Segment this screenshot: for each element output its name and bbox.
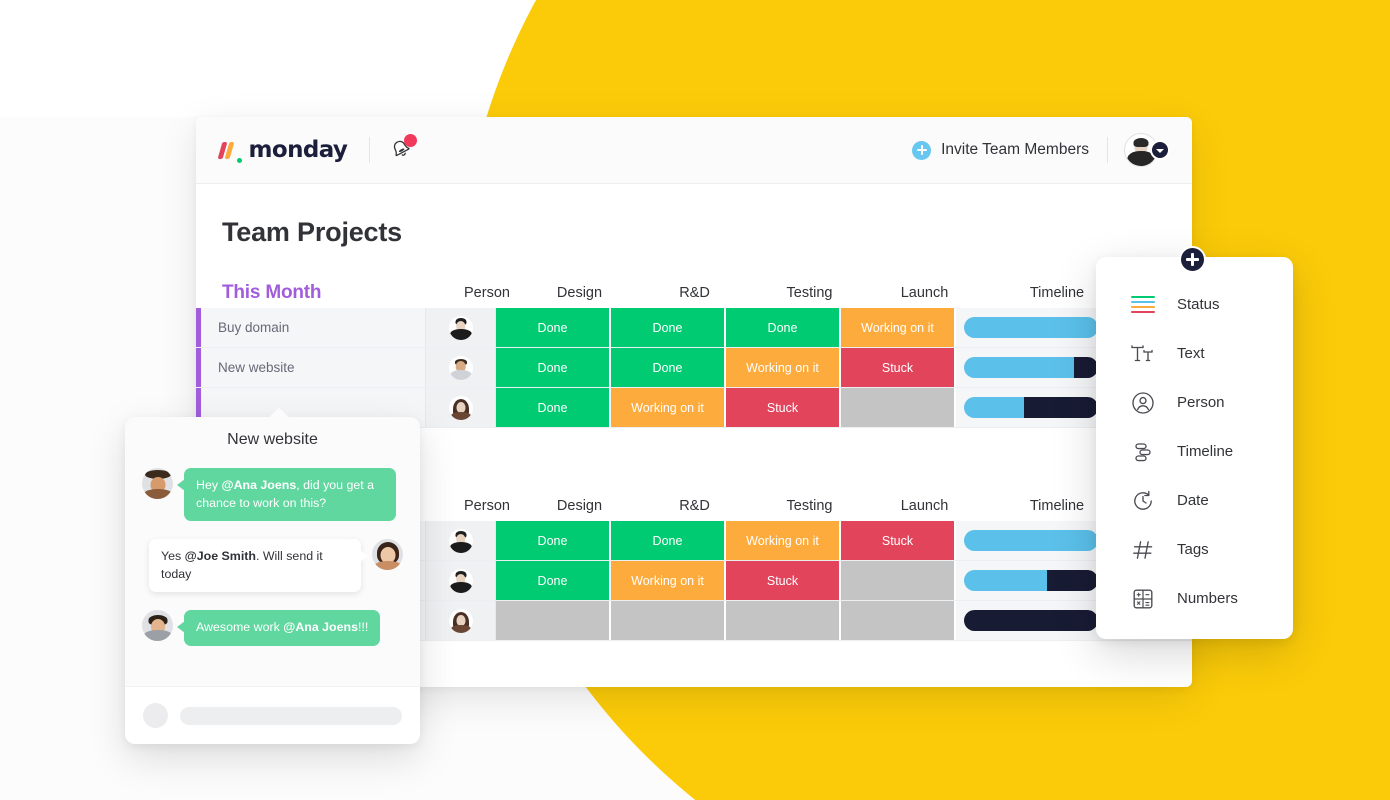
timeline-bar bbox=[964, 530, 1098, 551]
popup-pointer bbox=[268, 408, 290, 418]
chat-bubble: Awesome work @Ana Joens!!! bbox=[184, 610, 380, 646]
timeline-progress bbox=[964, 570, 1047, 591]
column-header-testing[interactable]: Testing bbox=[752, 285, 867, 301]
row-timeline-cell[interactable] bbox=[956, 601, 1106, 640]
status-badge[interactable]: Working on it bbox=[726, 348, 841, 387]
row-person-cell[interactable] bbox=[426, 561, 496, 600]
page-root: monday Invite Team Members bbox=[0, 0, 1390, 800]
column-type-label: Person bbox=[1177, 394, 1225, 411]
text-tt-icon bbox=[1130, 343, 1155, 365]
avatar bbox=[449, 396, 473, 420]
group-header: This MonthPersonDesignR&DTestingLaunchTi… bbox=[196, 278, 1192, 308]
column-type-item-date[interactable]: Date bbox=[1096, 476, 1293, 525]
hash-tags-icon bbox=[1130, 537, 1155, 562]
column-type-label: Text bbox=[1177, 345, 1205, 362]
column-header-testing[interactable]: Testing bbox=[752, 498, 867, 514]
status-badge[interactable] bbox=[841, 561, 956, 600]
timeline-remaining bbox=[1024, 397, 1098, 418]
avatar bbox=[449, 316, 473, 340]
status-badge[interactable] bbox=[841, 388, 956, 427]
column-header-person[interactable]: Person bbox=[452, 285, 522, 301]
monday-logo[interactable]: monday bbox=[220, 137, 347, 163]
status-badge[interactable]: Working on it bbox=[611, 561, 726, 600]
topbar-divider bbox=[369, 137, 370, 163]
column-type-item-timeline[interactable]: Timeline bbox=[1096, 427, 1293, 476]
logo-text: monday bbox=[249, 137, 348, 163]
plus-circle-icon bbox=[912, 141, 931, 160]
status-badge[interactable]: Stuck bbox=[841, 348, 956, 387]
column-type-item-tags[interactable]: Tags bbox=[1096, 525, 1293, 574]
column-type-item-person[interactable]: Person bbox=[1096, 378, 1293, 427]
chevron-down-icon[interactable] bbox=[1150, 140, 1170, 160]
row-person-cell[interactable] bbox=[426, 308, 496, 347]
hash-tags-icon bbox=[1131, 538, 1155, 562]
column-type-label: Date bbox=[1177, 492, 1209, 509]
group-name[interactable]: This Month bbox=[222, 282, 452, 304]
timeline-bar bbox=[964, 570, 1098, 591]
invite-team-members-button[interactable]: Invite Team Members bbox=[912, 141, 1089, 160]
timeline-progress bbox=[964, 530, 1098, 551]
timeline-bars-icon bbox=[1131, 440, 1155, 464]
chat-bubble: Hey @Ana Joens, did you get a chance to … bbox=[184, 468, 396, 521]
column-header-design[interactable]: Design bbox=[522, 498, 637, 514]
table-row[interactable]: New websiteDoneDoneWorking on itStuck bbox=[196, 348, 1192, 388]
status-badge[interactable] bbox=[496, 601, 611, 640]
board-group: This MonthPersonDesignR&DTestingLaunchTi… bbox=[196, 278, 1192, 428]
status-badge[interactable]: Done bbox=[611, 521, 726, 560]
timeline-bar bbox=[964, 610, 1098, 631]
status-badge[interactable]: Done bbox=[726, 308, 841, 347]
row-person-cell[interactable] bbox=[426, 601, 496, 640]
status-badge[interactable]: Stuck bbox=[726, 561, 841, 600]
invite-label: Invite Team Members bbox=[941, 141, 1089, 159]
user-avatar-menu[interactable] bbox=[1124, 133, 1170, 167]
status-lines-icon bbox=[1131, 296, 1155, 314]
avatar bbox=[449, 529, 473, 553]
row-timeline-cell[interactable] bbox=[956, 388, 1106, 427]
person-circle-icon bbox=[1130, 390, 1155, 415]
column-type-item-status[interactable]: Status bbox=[1096, 280, 1293, 329]
status-badge[interactable] bbox=[611, 601, 726, 640]
status-lines-icon bbox=[1130, 292, 1155, 317]
timeline-remaining bbox=[1047, 570, 1098, 591]
row-timeline-cell[interactable] bbox=[956, 561, 1106, 600]
column-type-list: StatusTextPersonTimelineDateTagsNumbers bbox=[1096, 280, 1293, 623]
timeline-remaining bbox=[964, 610, 1098, 631]
app-topbar: monday Invite Team Members bbox=[196, 117, 1192, 184]
column-type-item-numbers[interactable]: Numbers bbox=[1096, 574, 1293, 623]
chat-input[interactable] bbox=[180, 707, 402, 725]
table-row[interactable]: Buy domainDoneDoneDoneWorking on it bbox=[196, 308, 1192, 348]
status-badge[interactable]: Stuck bbox=[726, 388, 841, 427]
timeline-bar bbox=[964, 317, 1098, 338]
avatar bbox=[449, 356, 473, 380]
item-updates-popup: New website Hey @Ana Joens, did you get … bbox=[125, 417, 420, 744]
clock-date-icon bbox=[1130, 488, 1155, 513]
compose-avatar bbox=[143, 703, 168, 728]
add-column-button[interactable] bbox=[1179, 246, 1206, 273]
chat-message: Awesome work @Ana Joens!!! bbox=[142, 610, 403, 646]
chat-message: Yes @Joe Smith. Will send it today bbox=[142, 539, 403, 592]
status-badge[interactable]: Done bbox=[611, 348, 726, 387]
notifications-button[interactable] bbox=[388, 137, 416, 163]
status-badge[interactable]: Working on it bbox=[726, 521, 841, 560]
notification-badge bbox=[404, 134, 417, 147]
person-circle-icon bbox=[1131, 391, 1155, 415]
status-badge[interactable]: Done bbox=[496, 521, 611, 560]
column-type-label: Tags bbox=[1177, 541, 1209, 558]
status-badge[interactable] bbox=[726, 601, 841, 640]
timeline-bar bbox=[964, 397, 1098, 418]
text-tt-icon bbox=[1130, 341, 1155, 366]
avatar bbox=[142, 610, 173, 641]
chat-message: Hey @Ana Joens, did you get a chance to … bbox=[142, 468, 403, 521]
status-badge[interactable] bbox=[841, 601, 956, 640]
column-header-rd[interactable]: R&D bbox=[637, 285, 752, 301]
timeline-bars-icon bbox=[1130, 439, 1155, 464]
row-person-cell[interactable] bbox=[426, 388, 496, 427]
column-header-rd[interactable]: R&D bbox=[637, 498, 752, 514]
numbers-grid-icon bbox=[1131, 587, 1155, 611]
avatar bbox=[142, 468, 173, 499]
status-badge[interactable]: Done bbox=[611, 308, 726, 347]
column-type-item-text[interactable]: Text bbox=[1096, 329, 1293, 378]
status-badge[interactable]: Done bbox=[496, 561, 611, 600]
timeline-bar bbox=[964, 357, 1098, 378]
row-timeline-cell[interactable] bbox=[956, 348, 1106, 387]
row-timeline-cell[interactable] bbox=[956, 308, 1106, 347]
row-timeline-cell[interactable] bbox=[956, 521, 1106, 560]
avatar bbox=[449, 569, 473, 593]
column-header-launch[interactable]: Launch bbox=[867, 285, 982, 301]
status-badge[interactable]: Stuck bbox=[841, 521, 956, 560]
logo-dot-icon bbox=[237, 158, 242, 163]
status-badge[interactable]: Done bbox=[496, 388, 611, 427]
column-header-person[interactable]: Person bbox=[452, 498, 522, 514]
avatar bbox=[372, 539, 403, 570]
chat-messages: Hey @Ana Joens, did you get a chance to … bbox=[125, 449, 420, 646]
timeline-progress bbox=[964, 357, 1074, 378]
row-item-name[interactable]: Buy domain bbox=[201, 308, 426, 347]
topbar-right-cluster: Invite Team Members bbox=[912, 133, 1170, 167]
column-header-launch[interactable]: Launch bbox=[867, 498, 982, 514]
topbar-divider-2 bbox=[1107, 137, 1108, 163]
column-type-label: Timeline bbox=[1177, 443, 1233, 460]
numbers-grid-icon bbox=[1130, 586, 1155, 611]
timeline-progress bbox=[964, 397, 1024, 418]
column-header-design[interactable]: Design bbox=[522, 285, 637, 301]
status-badge[interactable]: Done bbox=[496, 308, 611, 347]
chat-title: New website bbox=[125, 417, 420, 449]
status-badge[interactable]: Working on it bbox=[841, 308, 956, 347]
add-column-menu: StatusTextPersonTimelineDateTagsNumbers bbox=[1096, 257, 1293, 639]
row-item-name[interactable]: New website bbox=[201, 348, 426, 387]
column-type-label: Numbers bbox=[1177, 590, 1238, 607]
row-person-cell[interactable] bbox=[426, 521, 496, 560]
chat-compose-bar[interactable] bbox=[125, 686, 420, 744]
column-type-label: Status bbox=[1177, 296, 1220, 313]
chat-bubble: Yes @Joe Smith. Will send it today bbox=[149, 539, 361, 592]
timeline-progress bbox=[964, 317, 1098, 338]
page-title: Team Projects bbox=[196, 217, 1192, 248]
logo-slashes-icon bbox=[218, 142, 234, 159]
status-badge[interactable]: Working on it bbox=[611, 388, 726, 427]
timeline-remaining bbox=[1074, 357, 1098, 378]
avatar bbox=[449, 609, 473, 633]
status-badge[interactable]: Done bbox=[496, 348, 611, 387]
clock-date-icon bbox=[1131, 489, 1155, 513]
row-person-cell[interactable] bbox=[426, 348, 496, 387]
